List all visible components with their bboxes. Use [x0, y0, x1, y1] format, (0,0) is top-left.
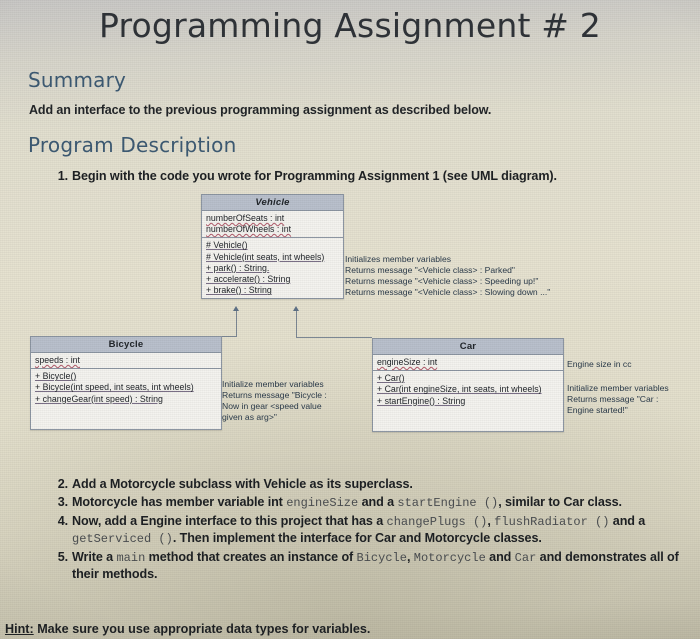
- uml-annotation-car-0: Initialize member variables: [567, 383, 669, 394]
- list-item-5-code-motorcycle: Motorcycle: [414, 551, 486, 565]
- list-item-4-text-a: Now, add a Engine interface to this proj…: [72, 514, 387, 528]
- list-item-5-text-c: ,: [407, 550, 414, 564]
- uml-annotation-vehicle-0: Initializes member variables: [345, 254, 451, 265]
- uml-annotation-vehicle-3: Returns message "<Vehicle class> : Slowi…: [345, 287, 550, 298]
- list-item-5-text-a: Write a: [72, 550, 116, 564]
- uml-annotation-car-1: Returns message "Car :: [567, 394, 658, 405]
- heading-summary: Summary: [28, 68, 126, 92]
- uml-operation: # Vehicle(): [205, 240, 343, 251]
- uml-annotation-car-attr: Engine size in cc: [567, 359, 632, 370]
- uml-operation: + Car(): [376, 373, 563, 384]
- list-item-4-code-change-plugs: changePlugs (): [387, 515, 488, 529]
- list-item-5-text-b: method that creates an instance of: [145, 550, 356, 564]
- hint-line: Hint: Make sure you use appropriate data…: [5, 622, 370, 636]
- uml-annotation-vehicle-2: Returns message "<Vehicle class> : Speed…: [345, 276, 538, 287]
- list-item-1: 1. Begin with the code you wrote for Pro…: [30, 168, 700, 184]
- page-title: Programming Assignment # 2: [0, 6, 700, 45]
- list-item-4-number: 4.: [50, 513, 68, 529]
- uml-annotation-car-2: Engine started!": [567, 405, 628, 416]
- uml-class-vehicle-attributes: numberOfSeats : int numberOfWheels : int: [202, 211, 343, 238]
- list-item-3-code-engine-size: engineSize: [286, 496, 358, 510]
- list-item-5-code-main: main: [116, 551, 145, 565]
- uml-operation: + brake() : String: [205, 285, 343, 296]
- uml-connector-vertical-bicycle: [236, 311, 237, 337]
- uml-operation: + Bicycle(int speed, int seats, int whee…: [34, 382, 221, 393]
- list-item-5: 5. Write a main method that creates an i…: [30, 549, 680, 582]
- hint-label: Hint:: [5, 622, 34, 636]
- uml-annotation-bicycle-2: Now in gear <speed value: [222, 401, 322, 412]
- list-item-4-text-d: . Then implement the interface for Car a…: [173, 531, 542, 545]
- list-item-3: 3. Motorcycle has member variable int en…: [30, 494, 680, 511]
- uml-class-vehicle: Vehicle numberOfSeats : int numberOfWhee…: [201, 194, 344, 299]
- uml-generalization-arrow-car: [293, 306, 299, 311]
- uml-connector-horizontal-car: [296, 337, 372, 338]
- list-item-4-code-flush-radiator: flushRadiator (): [494, 515, 609, 529]
- list-item-5-text-d: and: [486, 550, 515, 564]
- list-item-1-number: 1.: [50, 168, 68, 184]
- uml-operation: + changeGear(int speed) : String: [34, 394, 221, 405]
- list-item-1-text: Begin with the code you wrote for Progra…: [72, 169, 557, 183]
- list-item-4-code-get-serviced: getServiced (): [72, 532, 173, 546]
- uml-generalization-arrow-bicycle: [233, 306, 239, 311]
- heading-program-description: Program Description: [28, 133, 236, 157]
- uml-spacer: [376, 418, 563, 429]
- list-item-3-text-b: and a: [358, 495, 397, 509]
- uml-annotation-vehicle-1: Returns message "<Vehicle class> : Parke…: [345, 265, 515, 276]
- uml-attribute: numberOfWheels : int: [205, 224, 343, 235]
- uml-spacer: [34, 405, 221, 416]
- hint-text: Make sure you use appropriate data types…: [37, 622, 370, 636]
- list-item-2-number: 2.: [50, 476, 68, 492]
- uml-annotation-bicycle-0: Initialize member variables: [222, 379, 324, 390]
- uml-class-car-title: Car: [373, 339, 563, 355]
- uml-attribute: numberOfSeats : int: [205, 213, 343, 224]
- list-item-3-number: 3.: [50, 494, 68, 510]
- uml-class-bicycle: Bicycle speeds : int + Bicycle() + Bicyc…: [30, 336, 222, 430]
- uml-class-car-attributes: engineSize : int: [373, 355, 563, 371]
- list-item-2-text: Add a Motorcycle subclass with Vehicle a…: [72, 477, 413, 491]
- uml-operation: # Vehicle(int seats, int wheels): [205, 252, 343, 263]
- uml-annotation-bicycle-3: given as arg>": [222, 412, 277, 423]
- uml-class-bicycle-title: Bicycle: [31, 337, 221, 353]
- uml-class-car-operations: + Car() + Car(int engineSize, int seats,…: [373, 371, 563, 431]
- list-item-5-code-car: Car: [515, 551, 537, 565]
- uml-class-car: Car engineSize : int + Car() + Car(int e…: [372, 338, 564, 432]
- list-item-4-text-c: and a: [609, 514, 645, 528]
- document-content: Programming Assignment # 2 Summary Add a…: [0, 0, 700, 639]
- uml-operation: + Bicycle(): [34, 371, 221, 382]
- list-item-3-text-a: Motorcycle has member variable int: [72, 495, 286, 509]
- list-item-5-number: 5.: [50, 549, 68, 565]
- uml-attribute: speeds : int: [34, 355, 221, 366]
- uml-class-vehicle-title: Vehicle: [202, 195, 343, 211]
- uml-class-bicycle-attributes: speeds : int: [31, 353, 221, 369]
- uml-operation: + startEngine() : String: [376, 396, 563, 407]
- uml-class-vehicle-operations: # Vehicle() # Vehicle(int seats, int whe…: [202, 238, 343, 298]
- uml-connector-drop-bicycle: [137, 336, 138, 344]
- list-item-2: 2. Add a Motorcycle subclass with Vehicl…: [30, 476, 680, 492]
- uml-operation: + Car(int engineSize, int seats, int whe…: [376, 384, 563, 395]
- uml-class-bicycle-operations: + Bicycle() + Bicycle(int speed, int sea…: [31, 369, 221, 429]
- summary-paragraph: Add an interface to the previous program…: [29, 103, 491, 117]
- steps-list: 2. Add a Motorcycle subclass with Vehicl…: [30, 476, 680, 584]
- uml-annotation-bicycle-1: Returns message "Bicycle :: [222, 390, 327, 401]
- list-item-3-code-start-engine: startEngine (): [397, 496, 498, 510]
- uml-connector-vertical-car: [296, 311, 297, 338]
- uml-attribute: engineSize : int: [376, 357, 563, 368]
- uml-spacer: [34, 416, 221, 427]
- uml-spacer: [376, 407, 563, 418]
- uml-operation: + accelerate() : String: [205, 274, 343, 285]
- list-item-4: 4. Now, add a Engine interface to this p…: [30, 513, 680, 547]
- uml-operation: + park() : String.: [205, 263, 343, 274]
- uml-connector-horizontal-bicycle: [137, 336, 237, 337]
- list-item-3-text-c: , similar to Car class.: [498, 495, 622, 509]
- list-item-5-code-bicycle: Bicycle: [357, 551, 407, 565]
